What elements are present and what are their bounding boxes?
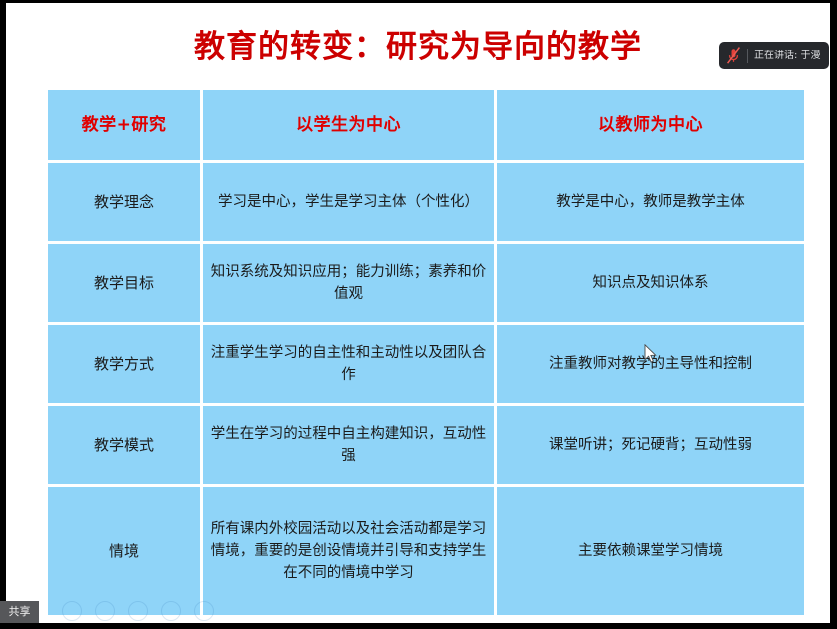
screen-share-viewport: 教育的转变：研究为导向的教学 教学+研究 以学生为中心 以教师为中心 教学理念 … xyxy=(0,0,837,629)
row-student-centered: 学习是中心，学生是学习主体（个性化） xyxy=(203,163,494,241)
mic-muted-icon xyxy=(725,46,742,65)
row-student-centered: 注重学生学习的自主性和主动性以及团队合作 xyxy=(203,325,494,403)
page-title: 教育的转变：研究为导向的教学 xyxy=(6,29,830,65)
row-label: 教学模式 xyxy=(48,406,200,484)
presentation-slide: 教育的转变：研究为导向的教学 教学+研究 以学生为中心 以教师为中心 教学理念 … xyxy=(6,3,830,623)
row-teacher-centered: 教学是中心，教师是教学主体 xyxy=(497,163,804,241)
active-speaker-badge: 正在讲话: 于漫 xyxy=(719,42,829,69)
table-row: 教学理念 学习是中心，学生是学习主体（个性化） 教学是中心，教师是教学主体 xyxy=(48,163,804,241)
active-speaker-label: 正在讲话: 于漫 xyxy=(754,50,821,62)
column-header-category: 教学+研究 xyxy=(48,90,200,160)
table-header-row: 教学+研究 以学生为中心 以教师为中心 xyxy=(48,90,804,160)
comparison-table: 教学+研究 以学生为中心 以教师为中心 教学理念 学习是中心，学生是学习主体（个… xyxy=(45,87,807,618)
row-student-centered: 知识系统及知识应用；能力训练；素养和价值观 xyxy=(203,244,494,322)
column-header-teacher-centered: 以教师为中心 xyxy=(497,90,804,160)
table-row: 教学模式 学生在学习的过程中自主构建知识，互动性强 课堂听讲；死记硬背；互动性弱 xyxy=(48,406,804,484)
share-status-badge: 共享 xyxy=(0,601,39,623)
table-row: 教学目标 知识系统及知识应用；能力训练；素养和价值观 知识点及知识体系 xyxy=(48,244,804,322)
row-label: 情境 xyxy=(48,487,200,615)
row-label: 教学方式 xyxy=(48,325,200,403)
row-teacher-centered: 课堂听讲；死记硬背；互动性弱 xyxy=(497,406,804,484)
table-row: 情境 所有课内外校园活动以及社会活动都是学习情境，重要的是创设情境并引导和支持学… xyxy=(48,487,804,615)
row-label: 教学目标 xyxy=(48,244,200,322)
row-student-centered: 所有课内外校园活动以及社会活动都是学习情境，重要的是创设情境并引导和支持学生在不… xyxy=(203,487,494,615)
column-header-student-centered: 以学生为中心 xyxy=(203,90,494,160)
row-teacher-centered: 知识点及知识体系 xyxy=(497,244,804,322)
row-teacher-centered: 注重教师对教学的主导性和控制 xyxy=(497,325,804,403)
row-label: 教学理念 xyxy=(48,163,200,241)
row-student-centered: 学生在学习的过程中自主构建知识，互动性强 xyxy=(203,406,494,484)
badge-divider xyxy=(747,49,748,63)
row-teacher-centered: 主要依赖课堂学习情境 xyxy=(497,487,804,615)
table-row: 教学方式 注重学生学习的自主性和主动性以及团队合作 注重教师对教学的主导性和控制 xyxy=(48,325,804,403)
